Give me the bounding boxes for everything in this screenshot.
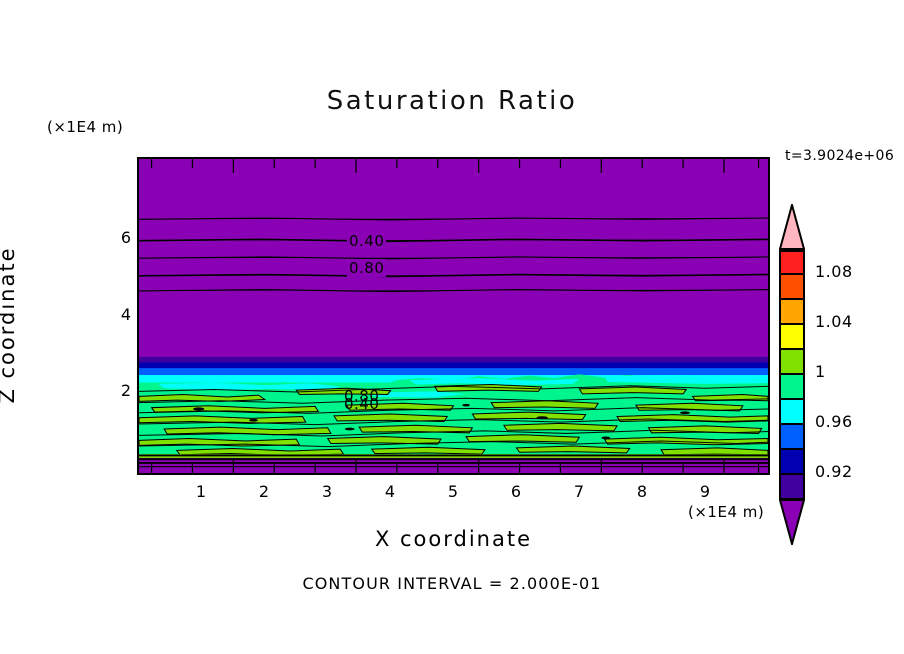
colorbar-band-1p08-1p10[interactable] [779, 250, 805, 275]
x-tick-6: 6 [501, 482, 531, 501]
contour-label-0p40-lower: 0.40 [344, 395, 379, 413]
colorbar-bottom-cap [779, 499, 805, 545]
colorbar-band-0p98-1p00[interactable] [779, 375, 805, 400]
page-title: Saturation Ratio [0, 86, 904, 116]
colorbar-top-cap [779, 204, 805, 250]
contour-interval-note: CONTOUR INTERVAL = 2.000E-01 [0, 574, 904, 593]
colorbar-label-0p96: 0.96 [815, 412, 853, 431]
x-tick-1: 1 [186, 482, 216, 501]
x-tick-2: 2 [249, 482, 279, 501]
contour-plot-area[interactable]: 0.40 0.80 0.80 0.40 [137, 157, 770, 475]
colorbar-band-1p02-1p04[interactable] [779, 325, 805, 350]
colorbar-band-0p94-0p96[interactable] [779, 425, 805, 450]
x-tick-8: 8 [627, 482, 657, 501]
contour-label-0p80-upper: 0.80 [347, 259, 386, 277]
y-tick-2: 2 [107, 381, 131, 400]
x-tick-7: 7 [564, 482, 594, 501]
y-axis-label: Z coordinate [0, 225, 19, 425]
colorbar-band-0p92-0p94[interactable] [779, 450, 805, 475]
x-tick-3: 3 [312, 482, 342, 501]
contour-label-0p40-upper: 0.40 [347, 232, 386, 250]
colorbar-band-0p96-0p98[interactable] [779, 400, 805, 425]
colorbar-band-1p00-1p02[interactable] [779, 350, 805, 375]
colorbar-label-1: 1 [815, 362, 826, 381]
y-axis-unit-label: (×1E4 m) [47, 118, 123, 136]
colorbar-band-1p06-1p08[interactable] [779, 275, 805, 300]
x-axis-label: X coordinate [137, 527, 770, 551]
x-tick-4: 4 [375, 482, 405, 501]
contour-field [139, 159, 768, 473]
colorbar-label-1p08: 1.08 [815, 262, 853, 281]
colorbar-label-0p92: 0.92 [815, 462, 853, 481]
colorbar[interactable] [779, 206, 805, 502]
x-tick-9: 9 [690, 482, 720, 501]
y-tick-6: 6 [107, 228, 131, 247]
colorbar-label-1p04: 1.04 [815, 312, 853, 331]
colorbar-band-1p04-1p06[interactable] [779, 300, 805, 325]
time-annotation: t=3.9024e+06 [785, 148, 894, 164]
colorbar-band-0p90-0p92[interactable] [779, 475, 805, 500]
x-tick-5: 5 [438, 482, 468, 501]
x-axis-unit-label: (×1E4 m) [688, 503, 764, 521]
y-tick-4: 4 [107, 305, 131, 324]
